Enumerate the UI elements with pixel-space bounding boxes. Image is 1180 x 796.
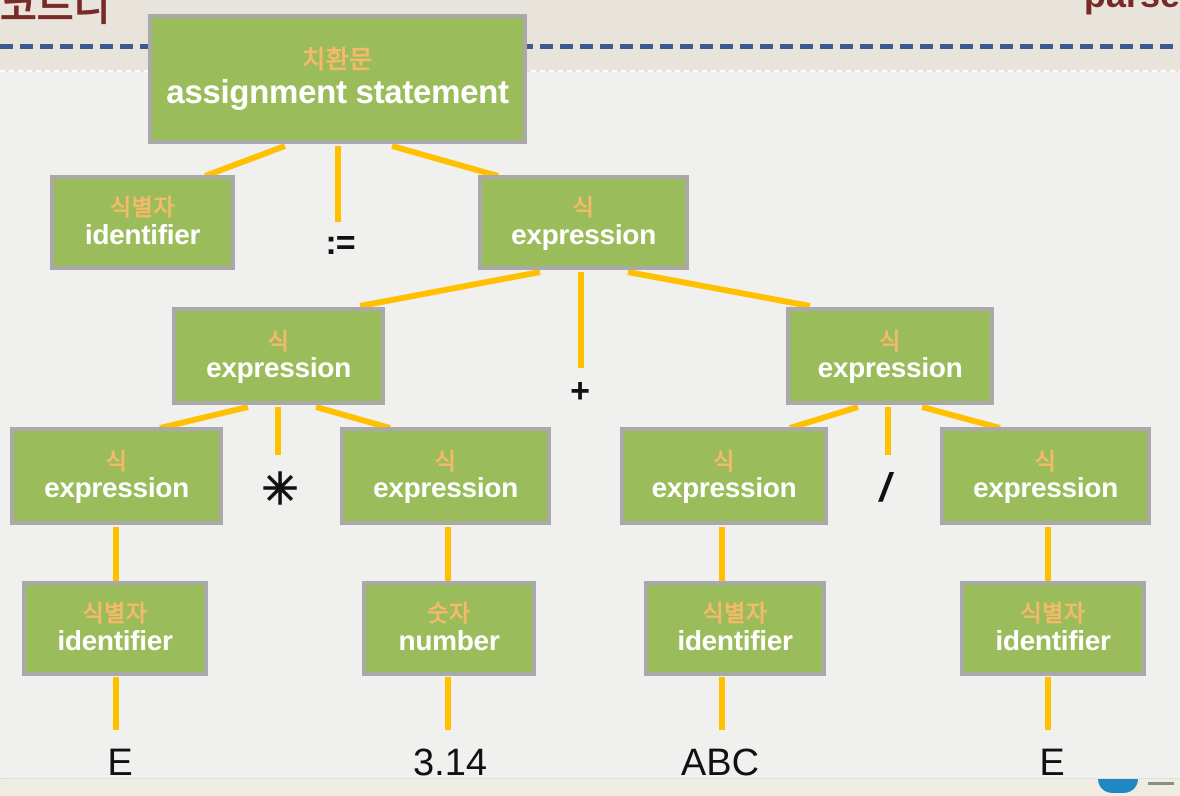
header-title-right: parse [1084, 0, 1180, 16]
tree-node-exp7[interactable]: 식expression [940, 427, 1151, 525]
tree-node-exp2[interactable]: 식expression [172, 307, 385, 405]
node-label-korean: 숫자 [427, 601, 470, 625]
header-title-left: 코드니 [0, 0, 110, 32]
tree-node-id4[interactable]: 식별자identifier [960, 581, 1146, 676]
node-label-korean: 식 [268, 329, 290, 353]
node-label-english: expression [973, 473, 1118, 503]
tree-node-id2[interactable]: 식별자identifier [22, 581, 208, 676]
footer-mark-icon [1148, 782, 1174, 785]
node-label-english: expression [652, 473, 797, 503]
plus-operator: + [540, 374, 620, 408]
node-label-english: identifier [995, 626, 1110, 656]
tree-node-exp4[interactable]: 식expression [10, 427, 223, 525]
node-label-korean: 식 [1035, 449, 1057, 473]
node-label-korean: 식 [713, 449, 735, 473]
tree-node-id1[interactable]: 식별자identifier [50, 175, 235, 270]
node-label-korean: 식별자 [1021, 601, 1086, 625]
node-label-english: expression [206, 353, 351, 383]
node-label-korean: 식별자 [83, 601, 148, 625]
node-label-korean: 식 [435, 449, 457, 473]
node-label-korean: 식별자 [110, 195, 175, 219]
tree-node-exp3[interactable]: 식expression [786, 307, 994, 405]
node-label-english: assignment statement [166, 74, 508, 111]
node-label-korean: 식 [573, 195, 595, 219]
node-label-english: expression [44, 473, 189, 503]
node-label-english: number [399, 626, 500, 656]
tree-node-exp5[interactable]: 식expression [340, 427, 551, 525]
node-label-korean: 식 [106, 449, 128, 473]
multiplication-operator: ✳ [240, 468, 320, 512]
node-label-korean: 치환문 [302, 47, 373, 74]
node-label-english: identifier [57, 626, 172, 656]
node-label-english: expression [373, 473, 518, 503]
node-label-korean: 식 [879, 329, 901, 353]
node-label-english: identifier [677, 626, 792, 656]
tree-node-id3[interactable]: 식별자identifier [644, 581, 826, 676]
division-operator: / [845, 468, 925, 508]
tree-node-root[interactable]: 치환문assignment statement [148, 14, 527, 144]
tree-node-num1[interactable]: 숫자number [362, 581, 536, 676]
tree-node-exp1[interactable]: 식expression [478, 175, 689, 270]
footer-strip [0, 778, 1180, 796]
assignment-operator: := [300, 226, 380, 260]
node-label-korean: 식별자 [703, 601, 768, 625]
node-label-english: expression [818, 353, 963, 383]
tree-node-exp6[interactable]: 식expression [620, 427, 828, 525]
slide-canvas: 코드니 parse 치환문assignment statement식별자iden… [0, 0, 1180, 796]
node-label-english: identifier [85, 220, 200, 250]
node-label-english: expression [511, 220, 656, 250]
